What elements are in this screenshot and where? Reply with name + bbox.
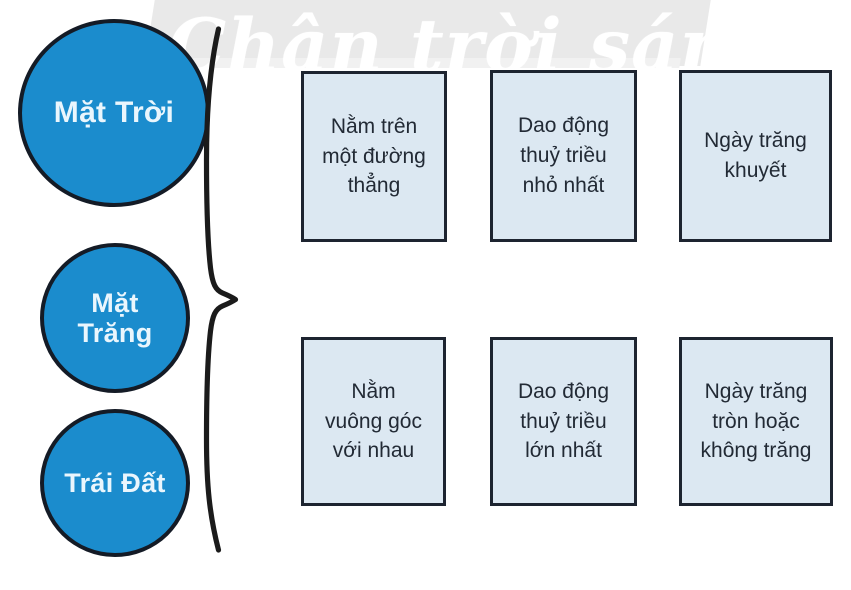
outcome-box-r2c3: Ngày trăng tròn hoặc không trăng	[679, 337, 833, 506]
circle-earth: Trái Đất	[40, 409, 190, 557]
curly-brace-icon	[200, 10, 295, 580]
outcome-box-r2c3-text: Ngày trăng tròn hoặc không trăng	[701, 377, 812, 466]
outcome-box-r1c2-text: Dao động thuỷ triều nhỏ nhất	[518, 111, 609, 200]
outcome-box-r2c1-text: Nằm vuông góc với nhau	[325, 377, 422, 466]
watermark-text: Chân trời sáng tạo	[168, 6, 728, 86]
circle-earth-label: Trái Đất	[64, 468, 165, 498]
outcome-box-r1c3-text: Ngày trăng khuyết	[704, 126, 807, 186]
outcome-box-r1c3: Ngày trăng khuyết	[679, 70, 832, 242]
circle-sun-label: Mặt Trời	[54, 96, 174, 130]
outcome-box-r1c2: Dao động thuỷ triều nhỏ nhất	[490, 70, 637, 242]
circle-moon: Mặt Trăng	[40, 243, 190, 393]
circle-sun: Mặt Trời	[18, 19, 210, 207]
outcome-box-r1c1-text: Nằm trên một đường thẳng	[322, 112, 426, 201]
circle-moon-label: Mặt Trăng	[77, 288, 152, 348]
diagram-canvas: Chân trời sáng tạo Mặt Trời Mặt Trăng Tr…	[0, 0, 851, 590]
outcome-box-r2c1: Nằm vuông góc với nhau	[301, 337, 446, 506]
outcome-box-r2c2-text: Dao động thuỷ triều lớn nhất	[518, 377, 609, 466]
outcome-box-r1c1: Nằm trên một đường thẳng	[301, 71, 447, 242]
outcome-box-r2c2: Dao động thuỷ triều lớn nhất	[490, 337, 637, 506]
